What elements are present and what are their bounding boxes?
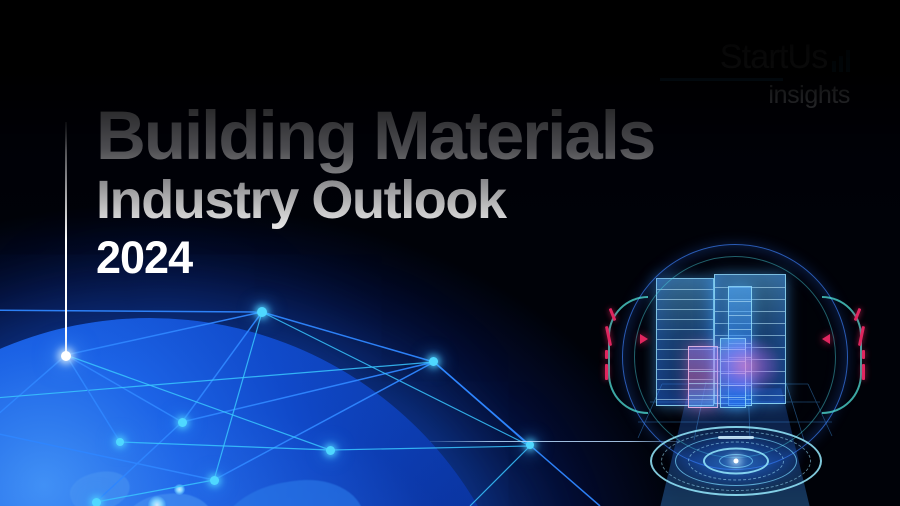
title-line-1: Building Materials	[96, 104, 856, 167]
hud-tick	[605, 364, 608, 380]
network-node	[178, 418, 187, 427]
logo-secondary-row: insights	[660, 82, 850, 108]
hud-tick	[862, 350, 865, 359]
network-node	[210, 476, 219, 485]
network-link-layer	[0, 250, 620, 506]
logo-underline	[660, 78, 783, 81]
title-line-2: Industry Outlook	[96, 173, 856, 228]
network-node	[429, 357, 438, 366]
network-node	[116, 438, 124, 446]
radar-projector-base	[648, 422, 824, 500]
hud-marker-right	[822, 334, 830, 344]
startus-insights-logo[interactable]: StartUs insights	[660, 40, 850, 108]
network-node	[257, 307, 267, 317]
logo-wordmark: StartUs	[720, 40, 828, 74]
logo-primary-row: StartUs	[660, 40, 850, 74]
page-title: Building Materials Industry Outlook 2024	[96, 104, 856, 280]
hud-tick	[605, 350, 608, 359]
title-accent-rule	[65, 122, 67, 356]
base-center-dot	[734, 459, 739, 464]
logo-subtitle: insights	[768, 81, 850, 109]
title-year: 2024	[96, 235, 856, 280]
hud-marker-left	[640, 334, 648, 344]
poster-canvas: Building Materials Industry Outlook 2024…	[0, 0, 900, 506]
hud-tick	[862, 364, 865, 380]
network-node	[526, 441, 534, 449]
network-node	[92, 498, 101, 506]
base-indicator-bar	[718, 436, 754, 439]
bar-chart-icon	[832, 52, 851, 74]
network-node	[326, 446, 335, 455]
